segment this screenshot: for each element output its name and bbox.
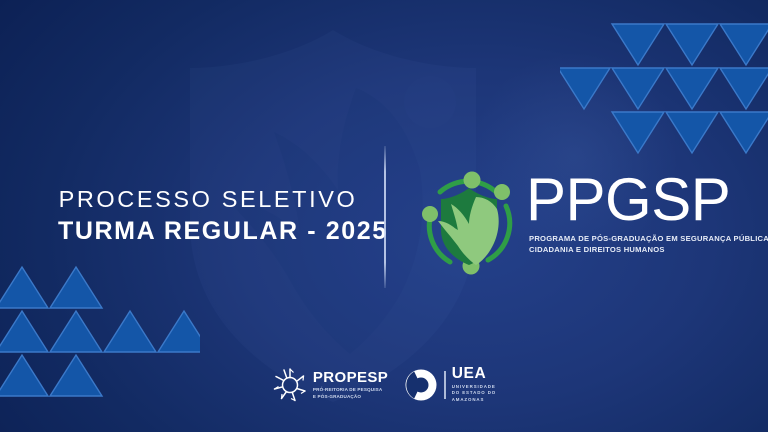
ppgsp-tagline-line-2: CIDADANIA E DIREITOS HUMANOS: [529, 244, 768, 255]
headline-block: PROCESSO SELETIVO TURMA REGULAR - 2025: [58, 186, 358, 247]
propesp-name: PROPESP: [313, 370, 388, 385]
ppgsp-tagline-line-1: PROGRAMA DE PÓS-GRADUAÇÃO EM SEGURANÇA P…: [529, 233, 768, 244]
uea-subtitle-line-3: AMAZONAS: [452, 397, 496, 404]
propesp-subtitle-line-1: PRÓ-REITORIA DE PESQUISA: [313, 387, 388, 394]
down-triangle-pattern: [560, 22, 768, 167]
shield-hand-dove-icon: [414, 168, 524, 276]
ppgsp-tagline: PROGRAMA DE PÓS-GRADUAÇÃO EM SEGURANÇA P…: [529, 233, 768, 255]
uea-logo: UEA UNIVERSIDADE DO ESTADO DO AMAZONAS: [404, 366, 496, 404]
uea-subtitle-line-1: UNIVERSIDADE: [452, 384, 496, 391]
uea-circle-icon: [404, 368, 438, 402]
headline-line-2: TURMA REGULAR - 2025: [58, 216, 358, 247]
ppgsp-logo-lockup: PPGSP PROGRAMA DE PÓS-GRADUAÇÃO EM SEGUR…: [414, 166, 768, 276]
footer-logos: PROPESP PRÓ-REITORIA DE PESQUISA E PÓS-G…: [0, 366, 768, 404]
propesp-subtitle: PRÓ-REITORIA DE PESQUISA E PÓS-GRADUAÇÃO: [313, 387, 388, 401]
uea-subtitle-line-2: DO ESTADO DO: [452, 390, 496, 397]
vertical-divider: [384, 146, 386, 288]
uea-name: UEA: [452, 366, 496, 382]
ppgsp-acronym: PPGSP: [526, 174, 768, 227]
promotional-banner: PROCESSO SELETIVO TURMA REGULAR - 2025: [0, 0, 768, 432]
propesp-logo: PROPESP PRÓ-REITORIA DE PESQUISA E PÓS-G…: [272, 367, 388, 403]
propesp-subtitle-line-2: E PÓS-GRADUAÇÃO: [313, 394, 388, 401]
uea-divider: [444, 371, 446, 399]
uea-subtitle: UNIVERSIDADE DO ESTADO DO AMAZONAS: [452, 384, 496, 404]
propesp-pinwheel-icon: [272, 367, 308, 403]
headline-line-1: PROCESSO SELETIVO: [58, 186, 358, 213]
